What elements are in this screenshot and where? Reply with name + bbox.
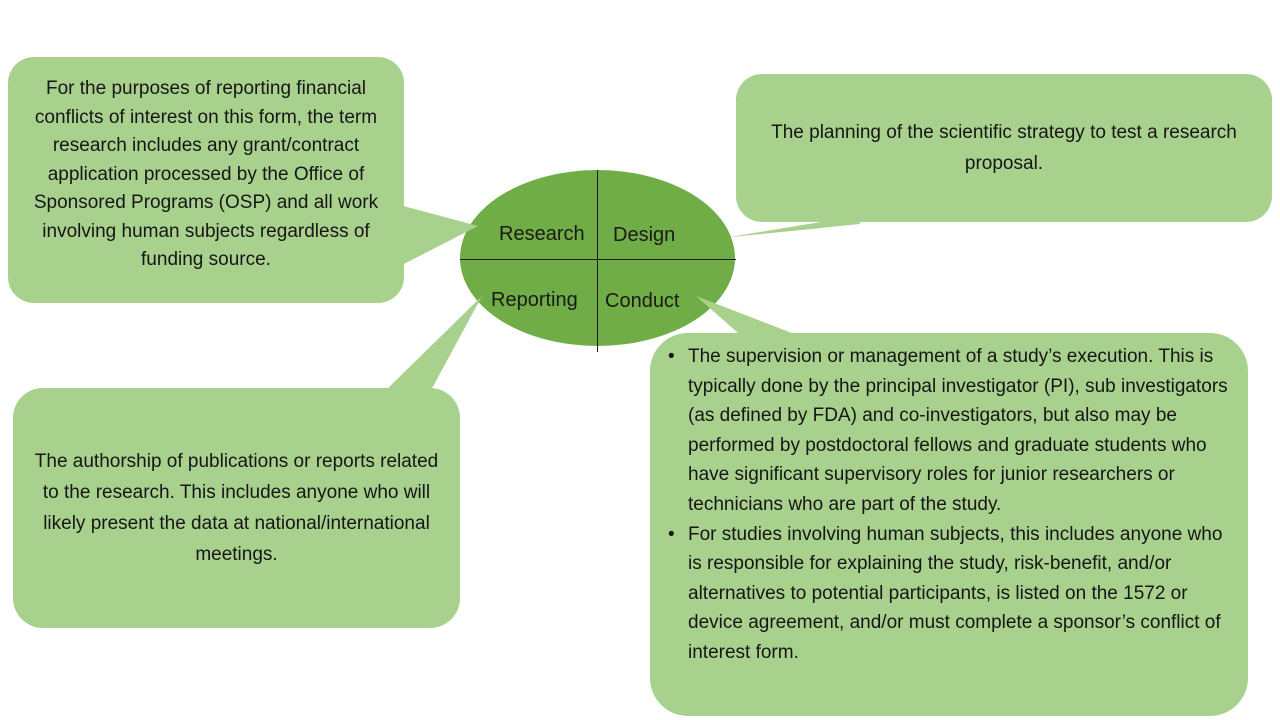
callout-research-text: For the purposes of reporting financial … — [34, 78, 378, 270]
callout-conduct-list: • The supervision or management of a stu… — [664, 342, 1234, 668]
quadrant-label-reporting[interactable]: Reporting — [491, 289, 578, 311]
callout-design[interactable]: The planning of the scientific strategy … — [736, 74, 1272, 222]
ellipse-divider-vertical — [597, 170, 598, 352]
callout-conduct-bullet-2: For studies involving human subjects, th… — [688, 524, 1222, 663]
callout-design-text: The planning of the scientific strategy … — [766, 117, 1242, 179]
callout-tail-reporting — [370, 294, 495, 400]
callout-tail-conduct — [690, 290, 820, 350]
list-item: • For studies involving human subjects, … — [664, 520, 1234, 668]
callout-tail-research — [396, 196, 486, 276]
diagram-canvas: Research Design Reporting Conduct For th… — [0, 0, 1280, 720]
list-item: • The supervision or management of a stu… — [664, 342, 1234, 520]
callout-tail-design — [722, 212, 862, 248]
bullet-glyph: • — [668, 342, 675, 372]
bullet-glyph: • — [668, 520, 675, 550]
quadrant-label-research[interactable]: Research — [499, 223, 585, 245]
quadrant-label-design[interactable]: Design — [613, 224, 675, 246]
callout-research[interactable]: For the purposes of reporting financial … — [8, 57, 404, 303]
callout-reporting[interactable]: The authorship of publications or report… — [13, 388, 460, 628]
quadrant-label-conduct[interactable]: Conduct — [605, 290, 680, 312]
callout-conduct[interactable]: • The supervision or management of a stu… — [650, 333, 1248, 716]
callout-conduct-bullet-1: The supervision or management of a study… — [688, 346, 1228, 515]
ellipse-divider-horizontal — [460, 259, 736, 260]
callout-reporting-text: The authorship of publications or report… — [31, 446, 442, 570]
